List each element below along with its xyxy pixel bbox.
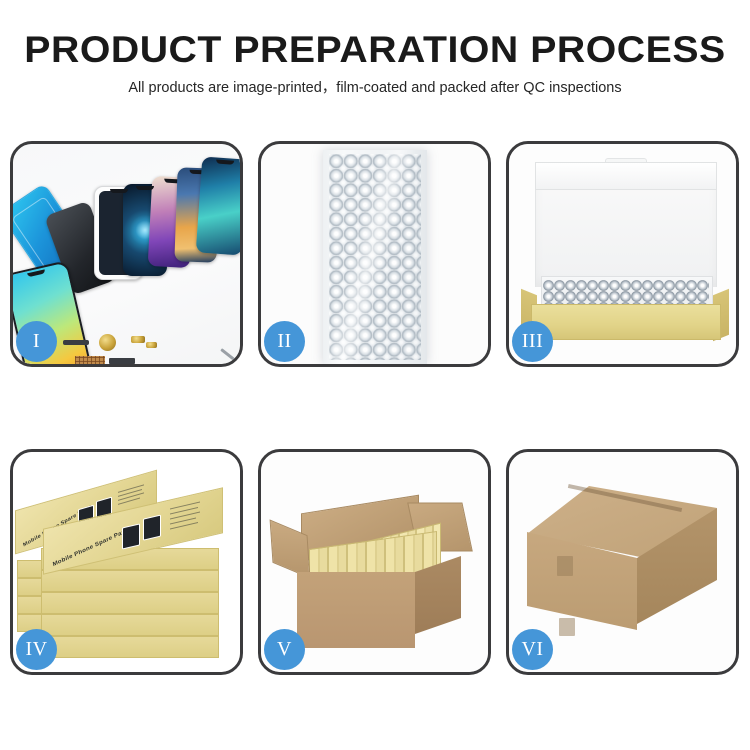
page-subtitle: All products are image-printed，film-coat… [0, 79, 750, 97]
step-panel-6: VI [506, 449, 739, 675]
step-panel-4: Mobile Phone Spare Parts Mobile Phone Sp… [10, 449, 243, 675]
retail-box [41, 592, 219, 614]
bubble-wrap-icon [323, 150, 427, 364]
step-badge-3: III [512, 321, 553, 362]
gold-bracket-icon [146, 342, 157, 348]
phone-notch-icon [216, 159, 234, 164]
step-panel-1: I [10, 141, 243, 367]
step-panel-2: II [258, 141, 491, 367]
retail-box [41, 614, 219, 636]
plastic-sheen [323, 150, 427, 364]
box-product-thumb [122, 523, 140, 549]
page-title: PRODUCT PREPARATION PROCESS [0, 28, 750, 72]
phone-display-green-icon [196, 157, 240, 256]
vibration-motor-icon [99, 334, 116, 351]
gold-connector-icon [131, 336, 145, 343]
phone-notch-icon [27, 269, 45, 277]
carton-tape-icon [557, 556, 573, 576]
antenna-flex-icon [63, 340, 89, 345]
phone-notch-icon [136, 186, 154, 190]
step-badge-5: V [264, 629, 305, 670]
process-steps-grid: I II [10, 141, 740, 675]
carton-front-icon [297, 572, 415, 648]
retail-box [41, 570, 219, 592]
product-preparation-infographic: PRODUCT PREPARATION PROCESS All products… [0, 0, 750, 750]
box-product-thumb [143, 515, 161, 541]
box-lid-flap-icon [535, 162, 717, 190]
retail-box [41, 636, 219, 658]
box-front-panel-icon [531, 304, 721, 340]
step-panel-3: III [506, 141, 739, 367]
bubble-wrap-fill-icon [543, 280, 709, 306]
flex-cable-icon [109, 358, 135, 364]
step-badge-1: I [16, 321, 57, 362]
step-badge-4: IV [16, 629, 57, 670]
header: PRODUCT PREPARATION PROCESS All products… [0, 28, 750, 97]
step-panel-5: V [258, 449, 491, 675]
carton-tape-icon [559, 618, 575, 636]
step-badge-2: II [264, 321, 305, 362]
copper-mesh-icon [75, 356, 105, 364]
step-badge-6: VI [512, 629, 553, 670]
phone-notch-icon [110, 189, 128, 193]
